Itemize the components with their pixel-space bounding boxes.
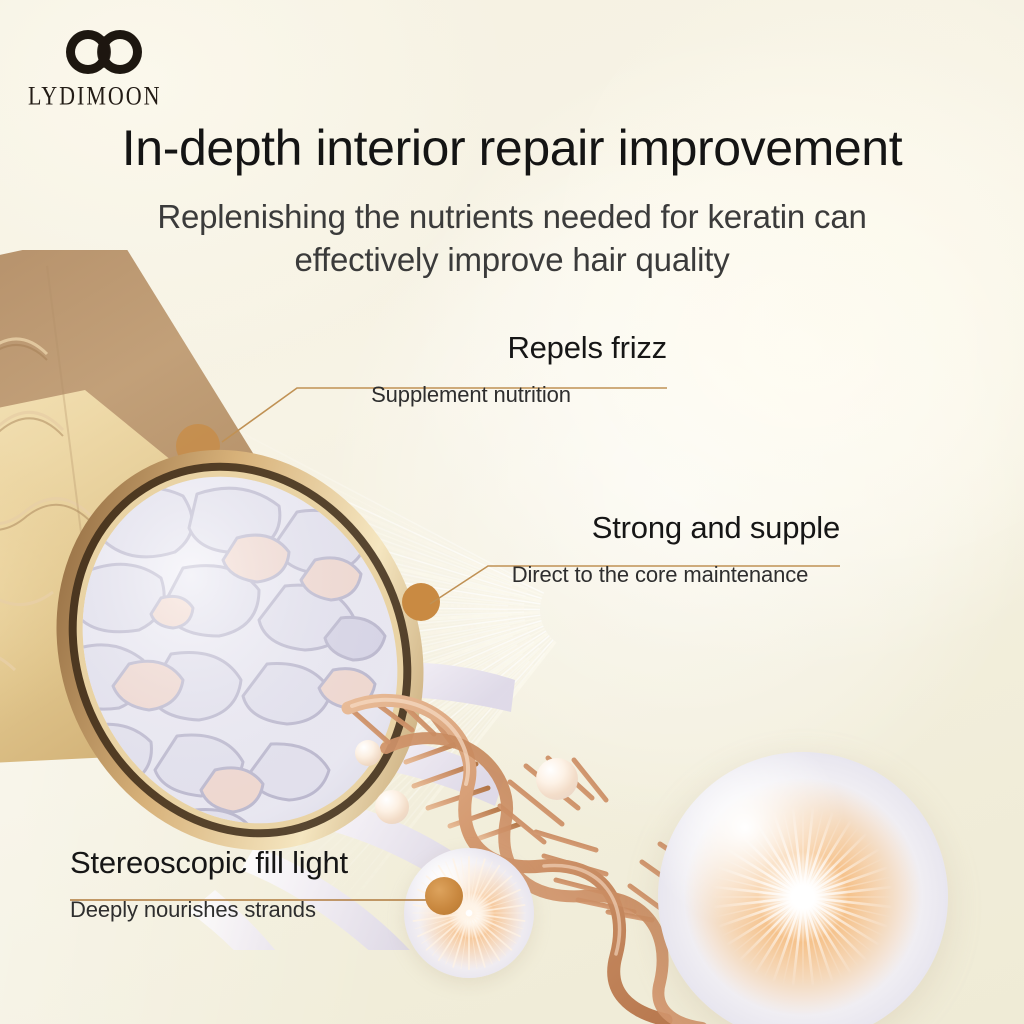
- callout-stereoscopic-fill-light: Stereoscopic fill light Deeply nourishes…: [70, 845, 440, 923]
- pearl-small: [536, 758, 578, 800]
- page-title: In-depth interior repair improvement: [0, 122, 1024, 175]
- brand-wordmark: LYDIMOON: [28, 80, 224, 112]
- callout-3-title: Stereoscopic fill light: [70, 845, 440, 881]
- interlocking-rings-icon: [62, 26, 154, 78]
- pearl-large: [658, 752, 948, 1024]
- page-subtitle: Replenishing the nutrients needed for ke…: [0, 196, 1024, 282]
- callout-repels-frizz: Repels frizz Supplement nutrition: [275, 330, 675, 408]
- pearl-small: [375, 790, 409, 824]
- callout-2-subtitle: Direct to the core maintenance: [480, 562, 840, 588]
- brand-logo[interactable]: LYDIMOON: [24, 26, 224, 106]
- callout-strong-and-supple: Strong and supple Direct to the core mai…: [480, 510, 845, 588]
- starburst-icon: [708, 802, 898, 992]
- callout-1-subtitle: Supplement nutrition: [275, 382, 667, 408]
- callout-3-subtitle: Deeply nourishes strands: [70, 897, 440, 923]
- subtitle-line-1: Replenishing the nutrients needed for ke…: [0, 196, 1024, 239]
- product-infographic: LYDIMOON In-depth interior repair improv…: [0, 0, 1024, 1024]
- pearl-small: [355, 740, 381, 766]
- callout-1-title: Repels frizz: [275, 330, 667, 366]
- callout-2-title: Strong and supple: [480, 510, 840, 546]
- subtitle-line-2: effectively improve hair quality: [0, 239, 1024, 282]
